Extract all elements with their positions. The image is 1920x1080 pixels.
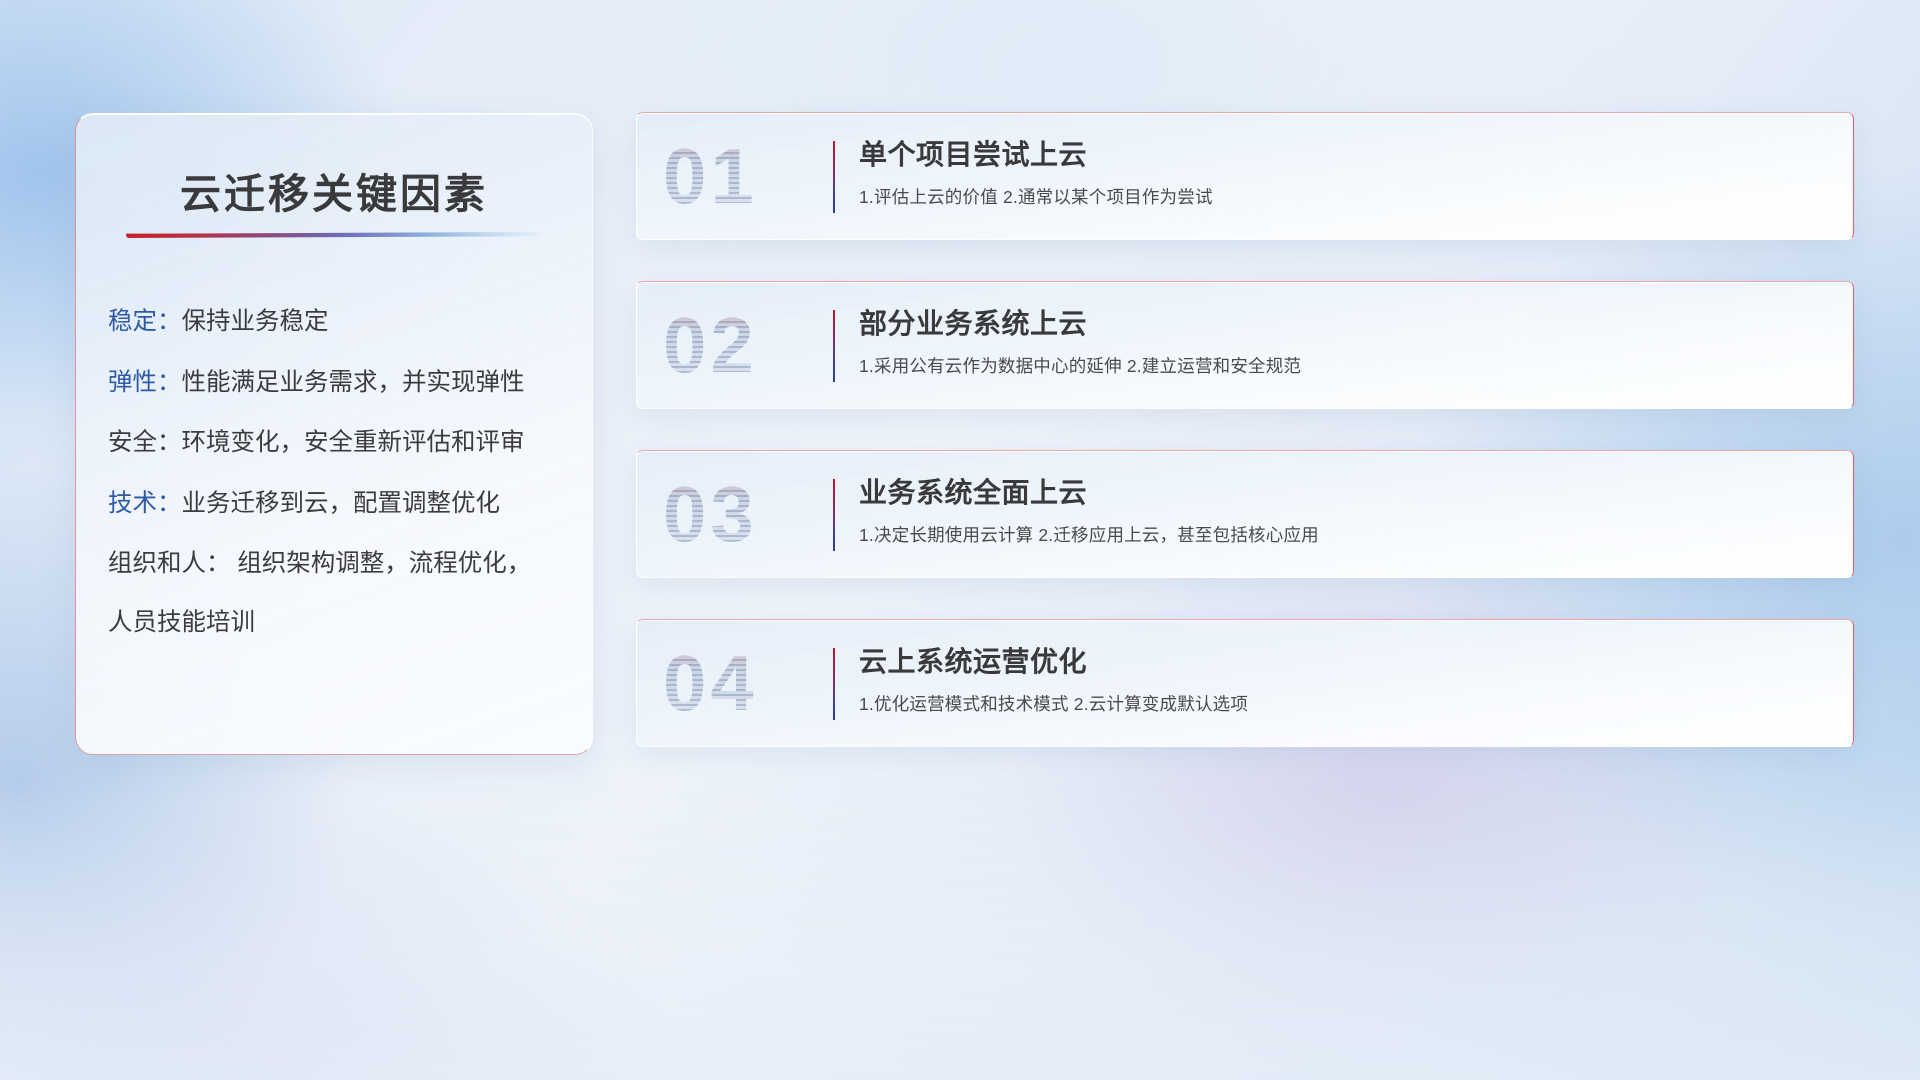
stage-card-04[interactable]: 04 云上系统运营优化 1.优化运营模式和技术模式 2.云计算变成默认选项 <box>636 619 1854 747</box>
stage-body: 业务系统全面上云 1.决定长期使用云计算 2.迁移应用上云，甚至包括核心应用 <box>859 477 1829 546</box>
page-title: 云迁移关键因素 <box>76 160 592 220</box>
title-gradient-rule <box>126 232 544 238</box>
stage-title: 业务系统全面上云 <box>859 477 1829 509</box>
stage-number: 03 <box>663 475 758 553</box>
key-factors-list: 稳定： 保持业务稳定 弹性： 性能满足业务需求，并实现弹性 安全： 环境变化，安… <box>108 310 568 671</box>
stage-number: 01 <box>663 137 758 215</box>
list-item: 稳定： 保持业务稳定 <box>108 310 568 335</box>
stage-body: 部分业务系统上云 1.采用公有云作为数据中心的延伸 2.建立运营和安全规范 <box>859 308 1829 377</box>
list-item: 技术： 业务迁移到云，配置调整优化 <box>108 492 568 517</box>
stage-description: 1.评估上云的价值 2.通常以某个项目作为尝试 <box>859 187 1829 208</box>
stage-description: 1.决定长期使用云计算 2.迁移应用上云，甚至包括核心应用 <box>859 525 1829 546</box>
factor-label: 稳定： <box>108 310 182 335</box>
key-factors-panel: 云迁移关键因素 稳定： 保持业务稳定 弹性： 性能满足业务需求，并实现弹性 安全… <box>75 113 593 755</box>
factor-label: 组织和人： <box>108 550 231 577</box>
stage-body: 云上系统运营优化 1.优化运营模式和技术模式 2.云计算变成默认选项 <box>859 646 1829 715</box>
stage-number: 02 <box>663 306 758 384</box>
stage-description: 1.优化运营模式和技术模式 2.云计算变成默认选项 <box>859 694 1829 715</box>
stage-divider <box>833 479 835 551</box>
stage-card-03[interactable]: 03 业务系统全面上云 1.决定长期使用云计算 2.迁移应用上云，甚至包括核心应… <box>636 450 1854 578</box>
list-item: 弹性： 性能满足业务需求，并实现弹性 <box>108 371 568 396</box>
stage-card-01[interactable]: 01 单个项目尝试上云 1.评估上云的价值 2.通常以某个项目作为尝试 <box>636 112 1854 240</box>
stage-body: 单个项目尝试上云 1.评估上云的价值 2.通常以某个项目作为尝试 <box>859 139 1829 208</box>
factor-text: 环境变化，安全重新评估和评审 <box>182 431 525 456</box>
stage-card-02[interactable]: 02 部分业务系统上云 1.采用公有云作为数据中心的延伸 2.建立运营和安全规范 <box>636 281 1854 409</box>
factor-label: 技术： <box>108 492 182 517</box>
stage-title: 部分业务系统上云 <box>859 308 1829 340</box>
list-item: 组织和人： 组织架构调整，流程优化， 人员技能培训 <box>108 552 568 635</box>
stage-title: 云上系统运营优化 <box>859 646 1829 678</box>
list-item: 安全： 环境变化，安全重新评估和评审 <box>108 431 568 456</box>
factor-label: 弹性： <box>108 371 182 396</box>
stage-number: 04 <box>663 644 758 722</box>
factor-text: 性能满足业务需求，并实现弹性 <box>182 371 525 396</box>
stage-divider <box>833 310 835 382</box>
stage-divider <box>833 648 835 720</box>
factor-text: 业务迁移到云，配置调整优化 <box>182 492 501 517</box>
stage-title: 单个项目尝试上云 <box>859 139 1829 171</box>
stage-divider <box>833 141 835 213</box>
factor-text: 组织架构调整，流程优化， <box>237 550 531 577</box>
factor-text: 保持业务稳定 <box>182 310 329 335</box>
slide-canvas: 云迁移关键因素 稳定： 保持业务稳定 弹性： 性能满足业务需求，并实现弹性 安全… <box>0 0 1920 1080</box>
factor-label: 安全： <box>108 431 182 456</box>
stage-description: 1.采用公有云作为数据中心的延伸 2.建立运营和安全规范 <box>859 356 1829 377</box>
factor-text-continuation: 人员技能培训 <box>108 611 568 636</box>
migration-stages: 01 单个项目尝试上云 1.评估上云的价值 2.通常以某个项目作为尝试 02 部… <box>636 112 1854 747</box>
